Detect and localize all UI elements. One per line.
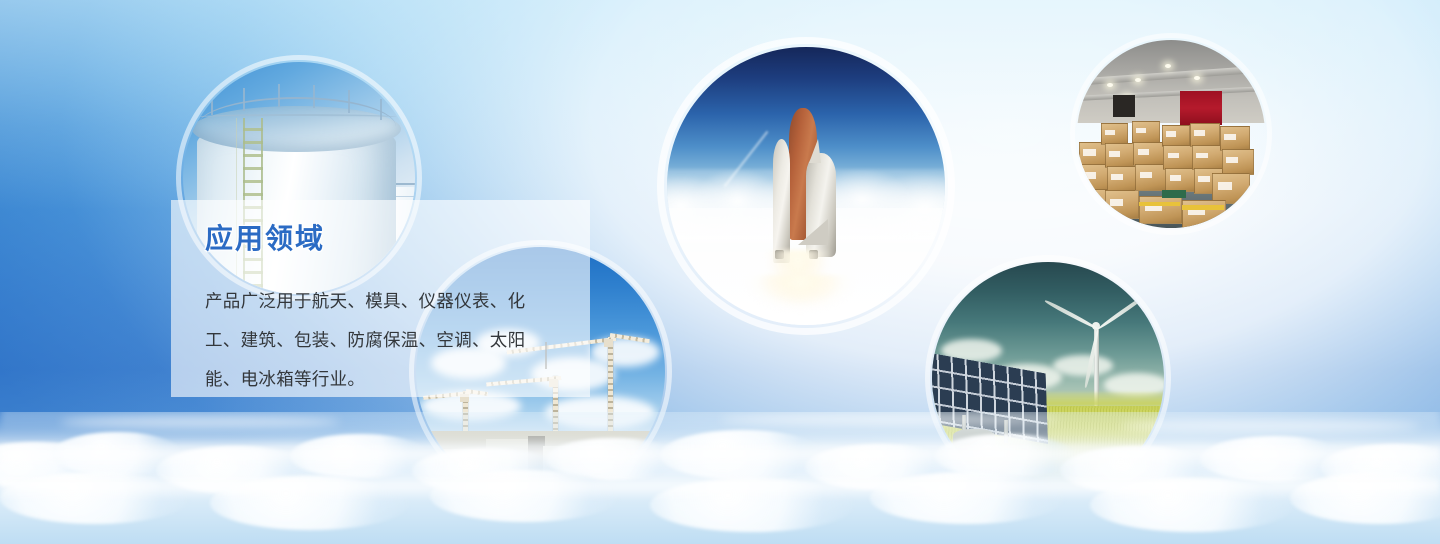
cloud-streak: [1120, 420, 1420, 432]
circle-photo-space-shuttle: [667, 47, 945, 325]
cloud-streak: [720, 414, 1060, 425]
page-title: 应用领域: [205, 222, 560, 256]
orbiter-wing: [798, 219, 828, 245]
green-pallet: [1162, 190, 1186, 198]
tank-rail-post: [348, 90, 350, 113]
ceiling-light: [1135, 78, 1141, 82]
tank-rail-post: [211, 94, 213, 115]
cloud-ridge: [0, 474, 1440, 500]
exhaust-plume-spread: [745, 275, 856, 325]
cardboard-box: [1182, 200, 1225, 228]
ceiling-light: [1194, 76, 1200, 80]
tank-rail-post: [313, 85, 315, 108]
cardboard-box: [1105, 143, 1133, 168]
cloud-ridge: [0, 442, 1440, 468]
box-yellow-strap: [1139, 202, 1180, 207]
tank-rail-post: [243, 88, 245, 111]
cardboard-box: [1133, 142, 1163, 167]
tower-crane-cab: [604, 339, 613, 347]
tank-rail-post: [380, 99, 382, 120]
renewable-cloud: [1053, 355, 1113, 376]
cardboard-box: [1139, 196, 1182, 224]
cloud-sea-layer: [0, 412, 1440, 544]
cardboard-box: [1132, 121, 1160, 144]
application-fields-banner: 应用领域 产品广泛用于航天、模具、仪器仪表、化工、建筑、包装、防腐保温、空调、太…: [0, 0, 1440, 544]
cardboard-box: [1105, 190, 1139, 218]
dark-wall-panel: [1113, 95, 1136, 118]
orbiter-vertical-stabilizer: [809, 139, 821, 163]
cardboard-box: [1190, 123, 1220, 148]
cardboard-box: [1165, 168, 1195, 193]
circle-photo-warehouse: [1077, 40, 1265, 228]
cardboard-box: [1222, 149, 1254, 175]
tank-rail-post: [278, 84, 280, 107]
box-yellow-strap: [1182, 205, 1223, 210]
red-wall-panel: [1180, 91, 1221, 125]
cardboard-box: [1101, 123, 1127, 146]
cloud-streak: [60, 416, 340, 428]
application-fields-description: 产品广泛用于航天、模具、仪器仪表、化工、建筑、包装、防腐保温、空调、太阳能、电冰…: [205, 282, 557, 399]
cardboard-box: [1162, 125, 1190, 148]
solid-rocket-booster: [773, 139, 790, 263]
cardboard-box: [1163, 145, 1193, 170]
cardboard-box: [1107, 166, 1137, 192]
cardboard-box: [1220, 126, 1250, 151]
application-fields-info-panel: 应用领域 产品广泛用于航天、模具、仪器仪表、化工、建筑、包装、防腐保温、空调、太…: [171, 200, 590, 397]
